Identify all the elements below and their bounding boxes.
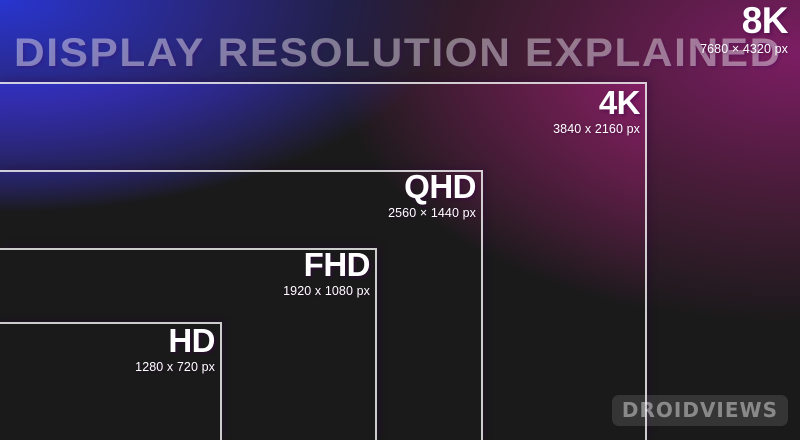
label-hd: HD 1280 x 720 px [65,324,215,374]
infographic-canvas: DISPLAY RESOLUTION EXPLAINED 8K 7680 × 4… [0,0,800,440]
label-fhd-dimensions: 1920 x 1080 px [225,285,370,298]
label-qhd: QHD 2560 × 1440 px [330,170,476,220]
label-8k: 8K 7680 × 4320 px [700,2,788,56]
label-8k-dimensions: 7680 × 4320 px [700,43,788,56]
label-hd-tier: HD [65,324,215,357]
label-8k-tier: 8K [700,2,788,39]
label-qhd-tier: QHD [330,170,476,203]
label-4k-dimensions: 3840 x 2160 px [492,123,640,136]
label-hd-dimensions: 1280 x 720 px [65,361,215,374]
label-4k-tier: 4K [492,86,640,119]
label-fhd-tier: FHD [225,248,370,281]
label-qhd-dimensions: 2560 × 1440 px [330,207,476,220]
watermark-droidviews: DROIDVIEWS [612,395,788,426]
label-fhd: FHD 1920 x 1080 px [225,248,370,298]
label-4k: 4K 3840 x 2160 px [492,86,640,136]
